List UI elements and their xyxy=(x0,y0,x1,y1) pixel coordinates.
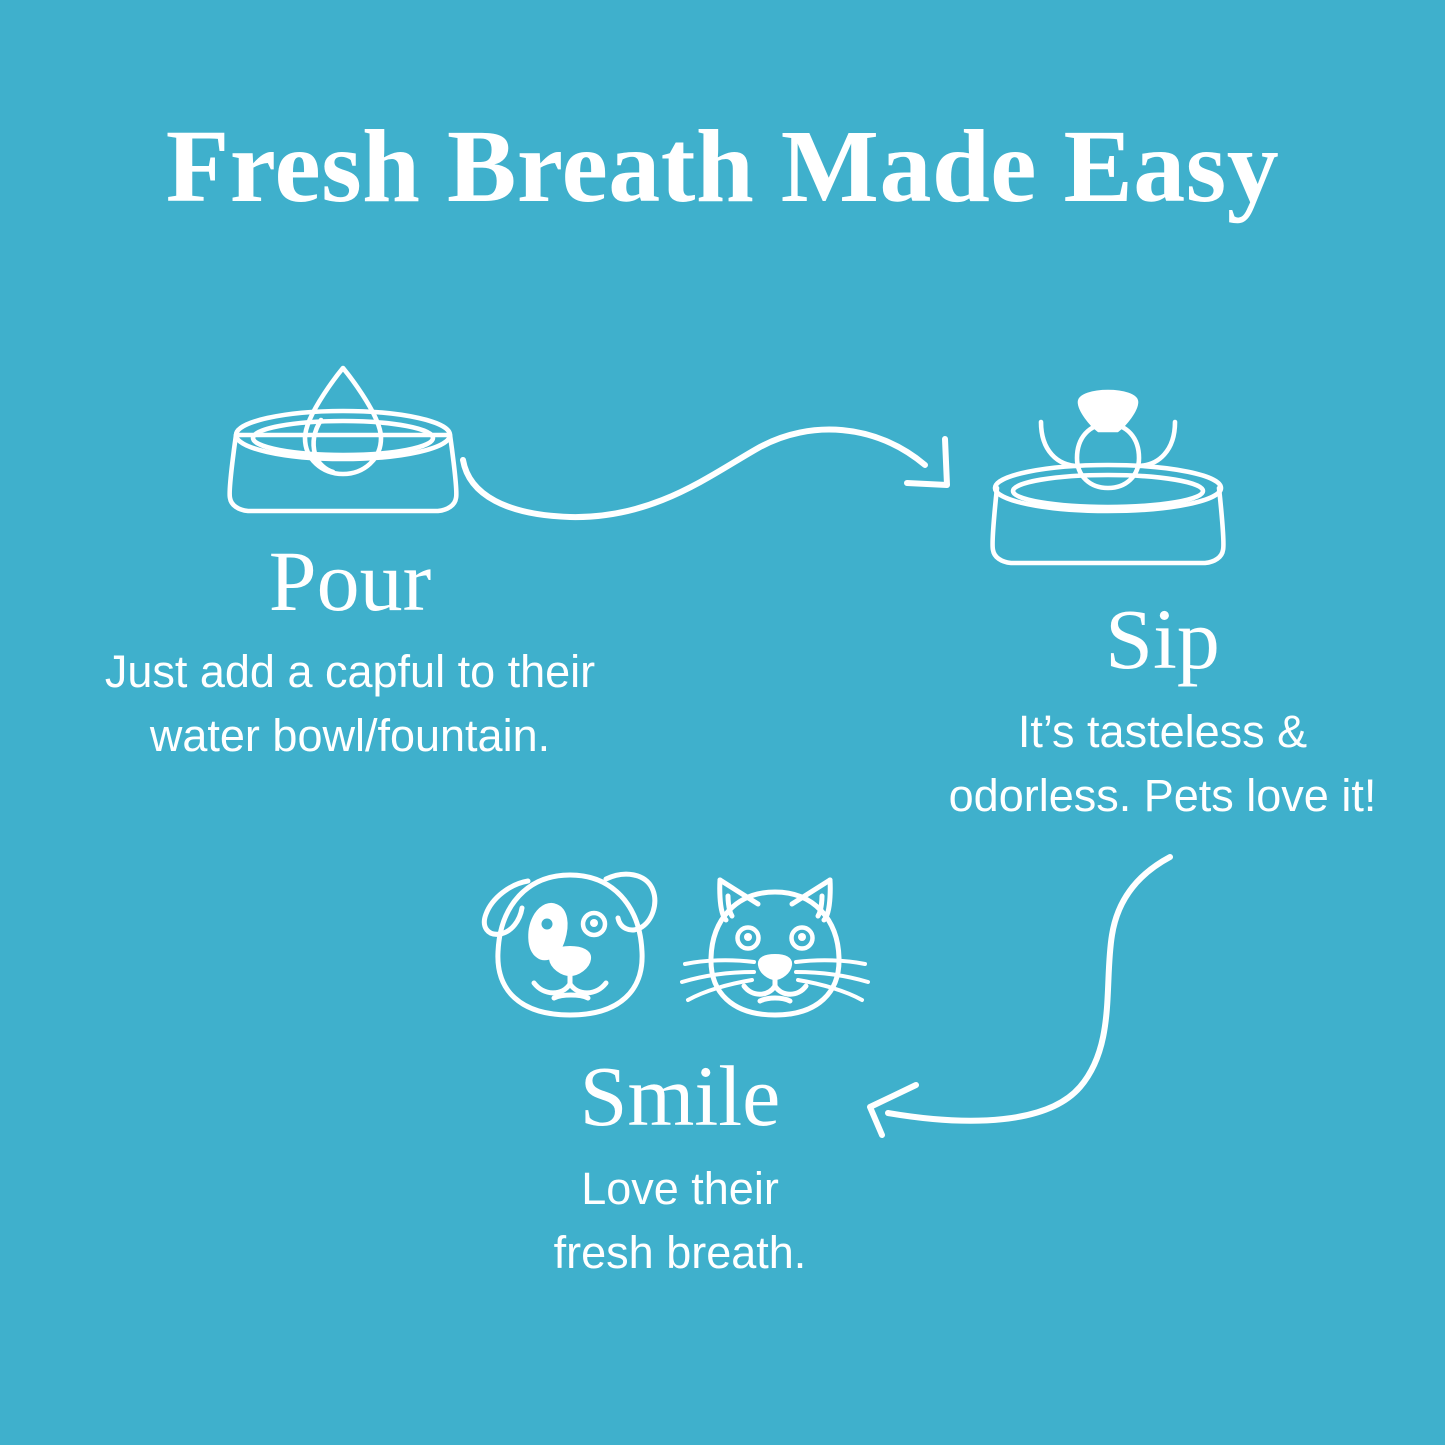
cat-face-icon xyxy=(682,880,868,1015)
step-smile-heading: Smile xyxy=(370,1053,990,1139)
step-smile-description: Love their fresh breath. xyxy=(370,1157,990,1285)
infographic-poster: Fresh Breath Made Easy Pour Just add a c… xyxy=(0,0,1445,1445)
page-title: Fresh Breath Made Easy xyxy=(0,112,1445,221)
step-smile-description-line2: fresh breath. xyxy=(370,1221,990,1285)
step-sip-description-line2: odorless. Pets love it! xyxy=(880,764,1445,828)
step-pour-description: Just add a capful to their water bowl/fo… xyxy=(30,640,670,768)
step-pour-heading: Pour xyxy=(0,538,700,624)
step-sip-heading: Sip xyxy=(880,596,1445,682)
step-smile-description-line1: Love their xyxy=(370,1157,990,1221)
step-sip-description: It’s tasteless & odorless. Pets love it! xyxy=(880,700,1445,828)
step-pour-description-line2: water bowl/fountain. xyxy=(30,704,670,768)
step-pour-description-line1: Just add a capful to their xyxy=(30,640,670,704)
curved-arrow-right-icon xyxy=(455,415,1025,540)
water-droplet-over-pet-bowl-icon xyxy=(218,362,468,522)
step-sip-description-line1: It’s tasteless & xyxy=(880,700,1445,764)
dog-drinking-from-pet-bowl-icon xyxy=(975,380,1240,570)
dog-and-cat-faces-icon xyxy=(470,860,870,1035)
dog-face-icon xyxy=(484,874,654,1015)
